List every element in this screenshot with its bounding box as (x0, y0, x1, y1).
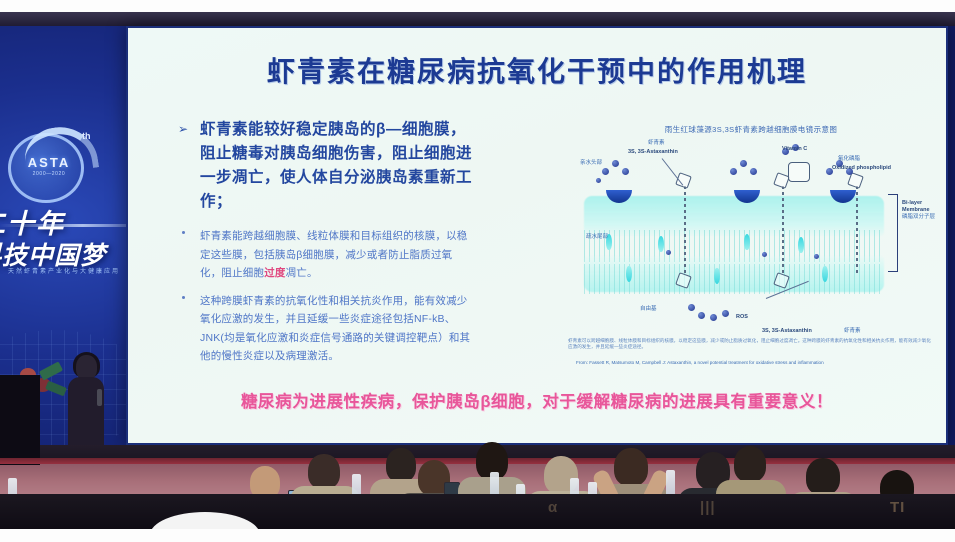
asta-logo-years: 2000—2020 (26, 171, 72, 177)
slide-text-column: ➢ 虾青素能较好稳定胰岛的β—细胞膜，阻止糖毒对胰岛细胞伤害，阻止细胞进一步凋亡… (176, 118, 472, 374)
asta-logo: ASTA 2000—2020 th (4, 125, 100, 205)
leaf (39, 361, 63, 380)
audience-head (614, 448, 648, 486)
ros-bead (710, 314, 717, 321)
astaxanthin-chain (782, 186, 784, 276)
phospholipid-head (822, 266, 828, 282)
astaxanthin-chain (856, 186, 858, 276)
backdrop-headline-sub: 天然虾青素产业化与大健康应用 (8, 266, 120, 275)
audience-head (734, 446, 766, 482)
phospholipid-bead (730, 168, 737, 175)
phospholipid-bead (612, 160, 619, 167)
diagram-footnote: 虾青素可以跨越细胞膜、线粒体膜和目标组织的核膜，以稳定这些膜，减少或防止脂质过氧… (568, 338, 934, 351)
phospholipid-head (714, 268, 720, 284)
audience-table-front (0, 494, 955, 529)
bullet-secondary-1: 虾青素能跨越细胞膜、线粒体膜和目标组织的核膜，以稳定这些膜，包括胰岛β细胞膜，减… (176, 226, 472, 282)
phospholipid-head (658, 236, 664, 252)
b2-1-after: 凋亡。 (286, 267, 318, 279)
audience-head (308, 454, 340, 489)
diagram-citation: From: Fassett R, Matsumoto M, Campbell J… (576, 360, 932, 365)
table-logo: TI (890, 499, 905, 522)
phospholipid-bead (750, 168, 757, 175)
projection-screen: 虾青素在糖尿病抗氧化干预中的作用机理 ➢ 虾青素能较好稳定胰岛的β—细胞膜，阻止… (126, 26, 948, 445)
bullet-primary-text: 虾青素能较好稳定胰岛的β—细胞膜，阻止糖毒对胰岛细胞伤害，阻止细胞进一步凋亡，使… (200, 121, 472, 210)
free-radical-bead (762, 252, 767, 257)
label-astaxanthin-en: 3S, 3S-Astaxanthin (628, 149, 678, 156)
phospholipid-head (744, 234, 750, 250)
ceiling-strip (0, 12, 955, 26)
label-oxidized-en: Oxidized phospholipid (832, 165, 891, 172)
b2-1-before: 虾青素能跨越细胞膜、线粒体膜和目标组织的核膜，以稳定这些膜，包括胰岛β细胞膜，减… (200, 230, 468, 279)
audience-head (806, 458, 840, 495)
label-astaxanthin-cn: 虾青素 (648, 140, 665, 147)
diagram-caption: 雨生红球藻源3S,3S虾青素跨越细胞膜电镜示意图 (566, 124, 936, 135)
bullet-secondary-2: 这种跨膜虾青素的抗氧化性和相关抗炎作用，能有效减少氧化应激的发生，并且延缓一些炎… (176, 291, 472, 365)
membrane-diagram: 雨生红球藻源3S,3S虾青素跨越细胞膜电镜示意图 (566, 124, 936, 372)
letterbox-top (0, 0, 955, 12)
bullet-dot-icon (182, 296, 185, 299)
label-bilayer-en: Bi-layer Membrane (902, 200, 936, 214)
asta-anniversary-badge: th (82, 131, 91, 141)
label-vitamin-c: Vitamin C (782, 146, 807, 153)
phospholipid-head (798, 237, 804, 253)
free-radical-bead (814, 254, 819, 259)
slide-bottom-statement: 糖尿病为进展性疾病，保护胰岛β细胞，对于缓解糖尿病的进展具有重要意义！ (128, 388, 946, 412)
slide-title: 虾青素在糖尿病抗氧化干预中的作用机理 (128, 50, 946, 90)
slide: 虾青素在糖尿病抗氧化干预中的作用机理 ➢ 虾青素能较好稳定胰岛的β—细胞膜，阻止… (128, 28, 946, 443)
ros-bead (722, 310, 729, 317)
label-ros: ROS (736, 314, 748, 321)
ros-bead (688, 304, 695, 311)
bullet-secondary-1-text: 虾青素能跨越细胞膜、线粒体膜和目标组织的核膜，以稳定这些膜，包括胰岛β细胞膜，减… (200, 230, 468, 279)
label-free-radical: 自由基 (640, 306, 657, 313)
letterbox-bottom (0, 529, 955, 542)
label-oxidized-cn: 氧化磷脂 (838, 156, 860, 163)
photo-scene: ASTA 2000—2020 th 二十年 科技中国梦 天然虾青素产业化与大健康… (0, 0, 955, 542)
label-phospholipid-tail: 疏水尾部 (586, 234, 608, 241)
phospholipid-bead (622, 168, 629, 175)
label-astaxanthin-bottom-en: 3S, 3S-Astaxanthin (762, 328, 812, 335)
phospholipid-bead (602, 168, 609, 175)
bullet-primary: ➢ 虾青素能较好稳定胰岛的β—细胞膜，阻止糖毒对胰岛细胞伤害，阻止细胞进一步凋亡… (176, 118, 472, 214)
table-logo: α (548, 499, 558, 522)
free-radical-bead (666, 250, 671, 255)
phospholipid-bead (740, 160, 747, 167)
vitamin-c-molecule (788, 162, 810, 182)
stage-side-panel (0, 375, 40, 465)
label-phospholipid-head: 亲水头部 (580, 160, 602, 167)
diagram-canvas: 虾青素 3S, 3S-Astaxanthin Vitamin C 氧化磷脂 Ox… (566, 138, 936, 334)
microphone-icon (97, 389, 102, 406)
phospholipid-bead (596, 178, 601, 183)
b2-1-highlight: 过度 (264, 267, 285, 279)
asta-logo-text: ASTA (25, 155, 73, 170)
bullet-dot-icon (182, 231, 185, 234)
bullet-secondary-2-text: 这种跨膜虾青素的抗氧化性和相关抗炎作用，能有效减少氧化应激的发生，并且延缓一些炎… (200, 295, 470, 363)
astaxanthin-chain (684, 186, 686, 276)
bullet-arrow-icon: ➢ (178, 122, 188, 136)
label-bilayer-cn: 磷脂双分子层 (902, 214, 935, 221)
table-logo: ||| (700, 499, 716, 522)
phospholipid-head (626, 266, 632, 282)
label-astaxanthin-bottom-cn: 虾青素 (844, 328, 861, 335)
bilayer-bracket (888, 194, 898, 272)
ros-bead (698, 312, 705, 319)
